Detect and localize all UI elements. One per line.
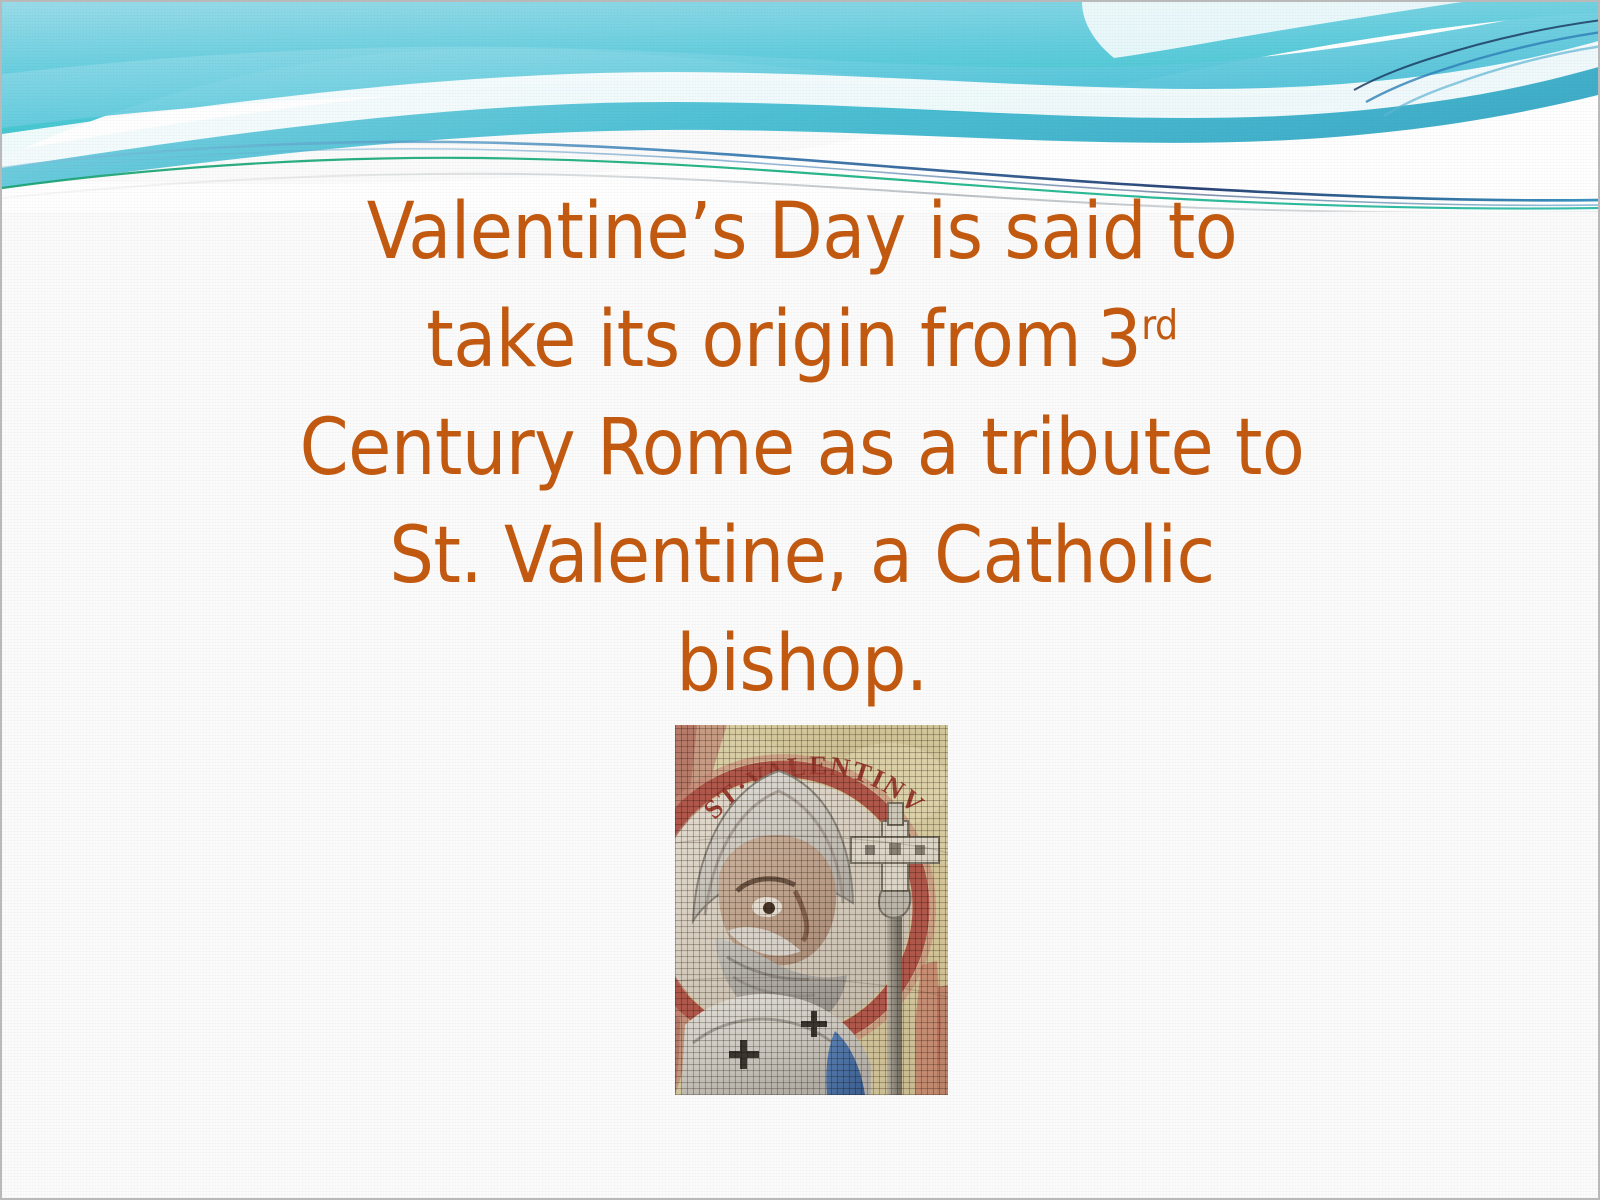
st-valentine-mosaic-image: ST·VALENTINVS <box>675 725 948 1095</box>
mosaic-staff-shaft <box>887 917 902 1095</box>
body-line-1: Valentine’s Day is said to <box>152 178 1452 286</box>
body-line-2: take its origin from3rd <box>152 286 1452 394</box>
body-line-3: Century Rome as a tribute to <box>152 394 1452 502</box>
slide-body-text: Valentine’s Day is said to take its orig… <box>152 178 1452 718</box>
presentation-slide: Valentine’s Day is said to take its orig… <box>0 0 1600 1200</box>
body-line-2-ordinal-suffix: rd <box>1141 301 1177 349</box>
body-line-5: bishop. <box>152 610 1452 718</box>
body-line-2-number: 3 <box>1097 295 1141 385</box>
mosaic-pupil <box>763 902 775 914</box>
mosaic-right-red-edge <box>937 985 948 1095</box>
body-line-4: St. Valentine, a Catholic <box>152 502 1452 610</box>
body-line-2-text: take its origin from <box>426 295 1081 385</box>
